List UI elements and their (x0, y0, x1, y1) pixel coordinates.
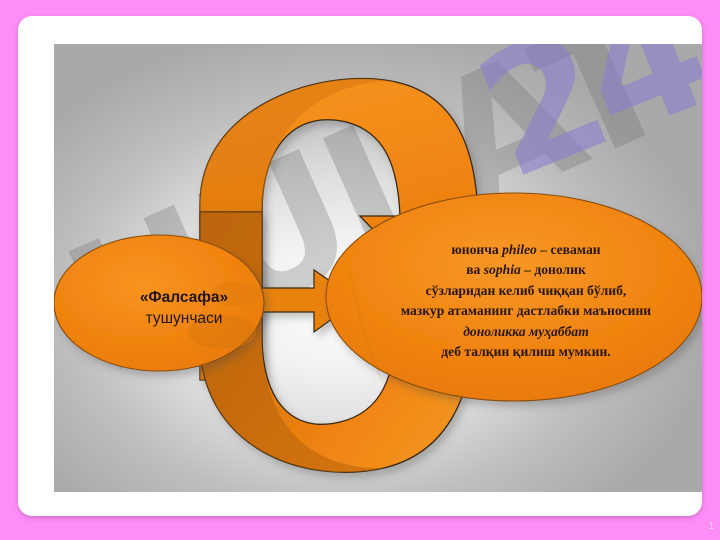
definition-line-6: деб талқин қилиш мумкин. (340, 342, 702, 362)
definition-line-1: юнонча phileo – севаман (340, 240, 702, 260)
definition-line-3: сўзларидан келиб чиққан бўлиб, (340, 281, 702, 301)
definition-line-5: доноликка муҳаббат (340, 322, 702, 342)
definition-node-text: юнонча phileo – севаман ва sophia – доно… (340, 240, 702, 362)
diagram-content-plate: HUJJAT 24 (54, 44, 702, 492)
slide-canvas: HUJJAT 24 (0, 0, 720, 540)
definition-line-2: ва sophia – донолик (340, 260, 702, 280)
definition-line-1-prefix: юнонча (451, 242, 502, 257)
concept-subtitle: тушунчаси (84, 309, 284, 330)
definition-line-2-suffix: – донолик (521, 262, 586, 277)
definition-line-1-suffix: – севаман (537, 242, 601, 257)
concept-title: «Фалсафа» (84, 288, 284, 309)
definition-line-2-prefix: ва (466, 262, 484, 277)
definition-line-1-latin: phileo (502, 242, 537, 257)
definition-line-4: мазкур атаманинг дастлабки маъносини (340, 301, 702, 321)
slide-frame: HUJJAT 24 (18, 16, 702, 516)
definition-line-2-latin: sophia (484, 262, 521, 277)
concept-node-text: «Фалсафа» тушунчаси (84, 288, 284, 330)
page-number: 1 (708, 521, 714, 532)
